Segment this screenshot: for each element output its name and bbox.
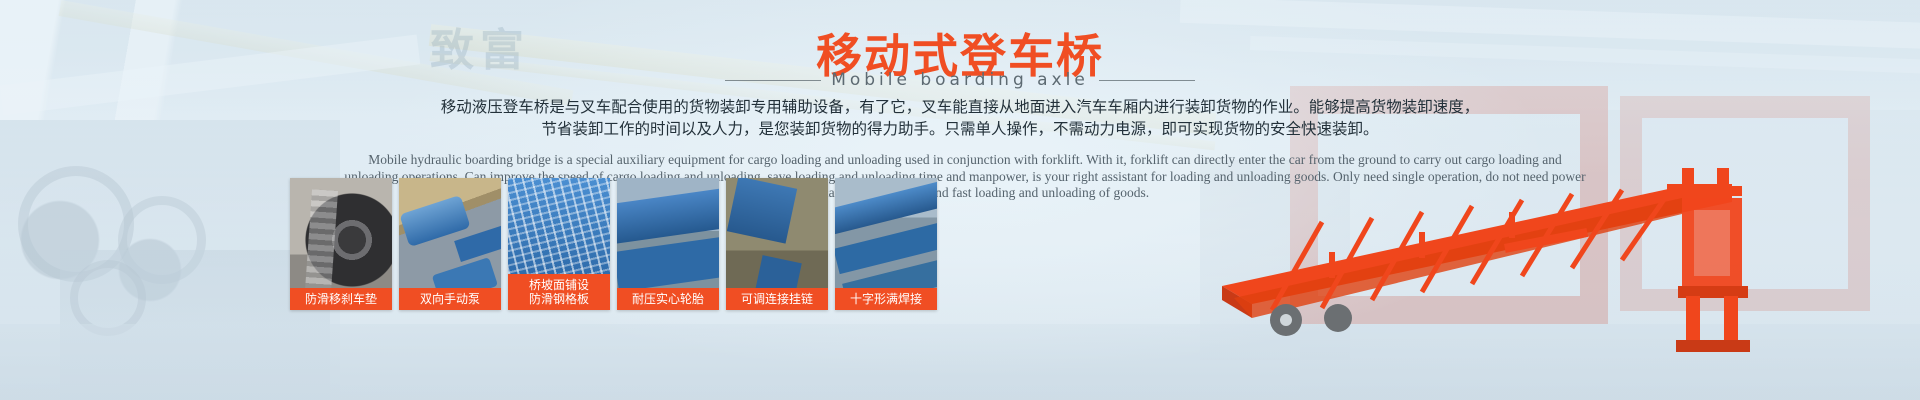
product-banner: 致富 移动式登车桥 Mobile boarding axle 移动液压登车桥是与…: [0, 0, 1920, 400]
feature-thumbnail[interactable]: 双向手动泵: [399, 178, 501, 310]
feature-caption: 耐压实心轮胎: [617, 288, 719, 310]
description-chinese-line-2: 节省装卸工作的时间以及人力，是您装卸货物的得力助手。只需单人操作，不需动力电源，…: [0, 118, 1920, 140]
banner-subtitle: Mobile boarding axle: [831, 70, 1089, 90]
subtitle-rule-right: [1099, 80, 1195, 81]
feature-thumbnail[interactable]: 可调连接挂链: [726, 178, 828, 310]
banner-content: 移动式登车桥 Mobile boarding axle 移动液压登车桥是与叉车配…: [0, 0, 1920, 400]
feature-caption: 十字形满焊接: [835, 288, 937, 310]
feature-thumbnail[interactable]: 桥坡面铺设 防滑钢格板: [508, 178, 610, 310]
feature-thumbnail[interactable]: 防滑移刹车垫: [290, 178, 392, 310]
feature-thumbnail-strip: 防滑移刹车垫 双向手动泵 桥坡面铺设 防滑钢格板 耐压实心轮胎 可调连接挂链 十…: [290, 178, 937, 310]
description-chinese: 移动液压登车桥是与叉车配合使用的货物装卸专用辅助设备，有了它，叉车能直接从地面进…: [0, 96, 1920, 140]
feature-caption: 可调连接挂链: [726, 288, 828, 310]
feature-caption: 桥坡面铺设 防滑钢格板: [508, 274, 610, 310]
feature-thumbnail[interactable]: 耐压实心轮胎: [617, 178, 719, 310]
feature-thumbnail[interactable]: 十字形满焊接: [835, 178, 937, 310]
feature-caption: 双向手动泵: [399, 288, 501, 310]
banner-subtitle-row: Mobile boarding axle: [0, 70, 1920, 90]
mobile-dock-ramp-illustration: [1212, 168, 1912, 398]
feature-caption: 防滑移刹车垫: [290, 288, 392, 310]
subtitle-rule-left: [725, 80, 821, 81]
description-chinese-line-1: 移动液压登车桥是与叉车配合使用的货物装卸专用辅助设备，有了它，叉车能直接从地面进…: [0, 96, 1920, 118]
